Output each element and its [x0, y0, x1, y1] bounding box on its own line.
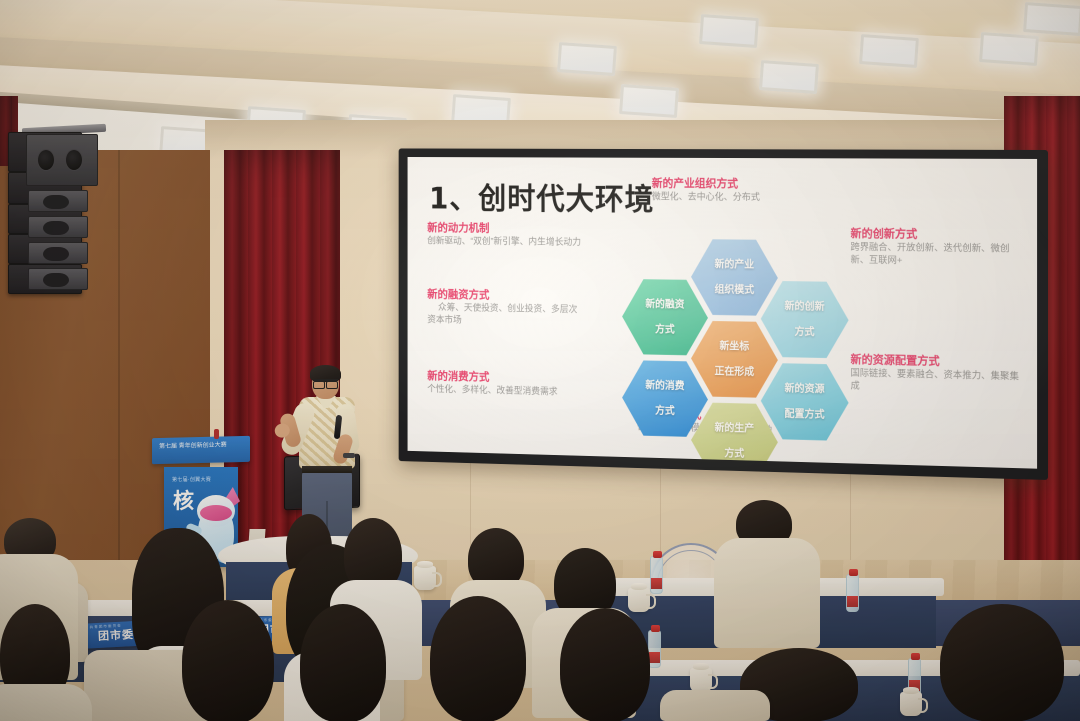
hex-line-1: 新坐标 — [711, 340, 758, 354]
ceiling-panel-light — [859, 34, 919, 68]
callout-innovation: 新的创新方式 跨界融合、开放创新、迭代创新、微创新、互联网+ — [851, 227, 1023, 270]
chair — [660, 690, 770, 721]
person-torso — [0, 684, 92, 721]
hexagon-industry-model[interactable]: 新的产业 组织模式 — [691, 238, 778, 318]
hex-line-1: 新的资源 — [781, 382, 829, 396]
hex-line-2: 方式 — [711, 447, 758, 461]
hex-line-1: 新的生产 — [711, 421, 758, 435]
speaker-horn — [28, 268, 88, 290]
callout-financing: 新的融资方式 众筹、天使投资、创业投资、多层次资本市场 — [427, 288, 579, 330]
callout-subtext: 微型化、去中心化、分布式 — [652, 192, 822, 206]
hexagon-consumption-mode[interactable]: 新的消费 方式 — [622, 358, 708, 438]
ceiling-panel-light — [759, 60, 819, 94]
tea-mug — [628, 588, 650, 612]
hex-line-2: 配置方式 — [781, 408, 829, 422]
tea-mug — [414, 566, 436, 590]
speaker-port — [65, 149, 83, 171]
water-bottle — [846, 574, 859, 612]
speaker-horn — [28, 216, 88, 238]
hexagon-production-mode[interactable]: 新的生产 方式 — [691, 401, 778, 469]
callout-subtext: 众筹、天使投资、创业投资、多层次资本市场 — [427, 303, 579, 330]
projection-screen[interactable]: 1、创时代大环境 新的产业组织方式 微型化、去中心化、分布式 新的动力机制 创新… — [399, 148, 1048, 480]
tea-mug — [690, 668, 712, 692]
speaker-sub-module — [26, 134, 98, 186]
hexagon-innovation-mode[interactable]: 新的创新 方式 — [761, 279, 849, 360]
water-bottle — [650, 556, 663, 594]
speaker-horn — [28, 190, 88, 212]
hexagon-cluster: 新的产业 组织模式 新的创新 方式 新的融资 方式 新坐标 — [622, 237, 848, 446]
ceiling-panel-light — [557, 42, 617, 76]
podium-event-title: 第七届·创翼大赛 — [172, 476, 211, 483]
callout-subtext: 跨界融合、开放创新、迭代创新、微创新、互联网+ — [851, 242, 1023, 270]
line-array-speaker — [8, 120, 104, 290]
hex-line-1: 新的创新 — [781, 300, 829, 314]
hex-line-2: 正在形成 — [711, 365, 758, 379]
mascot-face-mask — [200, 505, 232, 521]
callout-power-mechanism: 新的动力机制 创新驱动、“双创”新引擎、内生增长动力 — [427, 222, 637, 251]
podium-top-surface: 第七届 青年创新创业大赛 — [152, 436, 250, 464]
person-torso — [714, 538, 820, 648]
speaker-port — [37, 149, 55, 171]
callout-heading: 新的创新方式 — [851, 227, 1023, 243]
hexagon-financing-mode[interactable]: 新的融资 方式 — [622, 277, 708, 357]
hex-line-1: 新的消费 — [642, 379, 689, 393]
hex-line-2: 方式 — [642, 404, 689, 418]
person-hair — [300, 604, 386, 721]
glasses-icon — [313, 379, 338, 385]
callout-heading: 新的动力机制 — [427, 222, 637, 238]
ceiling-panel-light — [1023, 2, 1080, 36]
hexagon-resource-mode[interactable]: 新的资源 配置方式 — [761, 361, 849, 442]
callout-subtext: 创新驱动、“双创”新引擎、内生增长动力 — [427, 236, 637, 251]
speaker-horn — [28, 242, 88, 264]
callout-industry-organization: 新的产业组织方式 微型化、去中心化、分布式 — [652, 177, 822, 206]
podium-logo-text: 第七届 青年创新创业大赛 — [159, 442, 227, 451]
podium-microphone — [214, 429, 219, 439]
callout-heading: 新的产业组织方式 — [652, 177, 822, 192]
hex-line-2: 组织模式 — [711, 283, 758, 296]
ceiling-panel-light — [699, 14, 759, 48]
person-hair — [430, 596, 526, 721]
person-hair — [560, 608, 650, 721]
ceiling-panel-light — [619, 84, 679, 118]
person-hair — [182, 600, 274, 721]
presenter-left-forearm — [279, 412, 303, 449]
conference-photo-scene: 1、创时代大环境 新的产业组织方式 微型化、去中心化、分布式 新的动力机制 创新… — [0, 0, 1080, 721]
presenter-wristwatch — [343, 453, 355, 458]
callout-subtext: 国际链接、要素融合、资本推力、集聚集成 — [851, 368, 1023, 397]
hex-line-1: 新的融资 — [642, 298, 689, 311]
callout-consumption: 新的消费方式 个性化、多样化、改善型消费需求 — [427, 370, 609, 401]
ceiling-panel-light — [979, 32, 1039, 66]
hexagon-new-coordinate[interactable]: 新坐标 正在形成 — [691, 319, 778, 400]
screen-display-area: 1、创时代大环境 新的产业组织方式 微型化、去中心化、分布式 新的动力机制 创新… — [408, 157, 1037, 469]
hex-line-2: 方式 — [781, 326, 829, 340]
person-hair — [940, 604, 1064, 721]
hex-line-1: 新的产业 — [711, 258, 758, 271]
presenter-belt — [302, 466, 352, 473]
presentation-slide: 1、创时代大环境 新的产业组织方式 微型化、去中心化、分布式 新的动力机制 创新… — [408, 157, 1037, 469]
tea-mug — [900, 692, 922, 716]
callout-resource-allocation: 新的资源配置方式 国际链接、要素融合、资本推力、集聚集成 — [851, 353, 1023, 397]
slide-title: 1、创时代大环境 — [429, 174, 654, 219]
hex-line-2: 方式 — [642, 323, 689, 337]
